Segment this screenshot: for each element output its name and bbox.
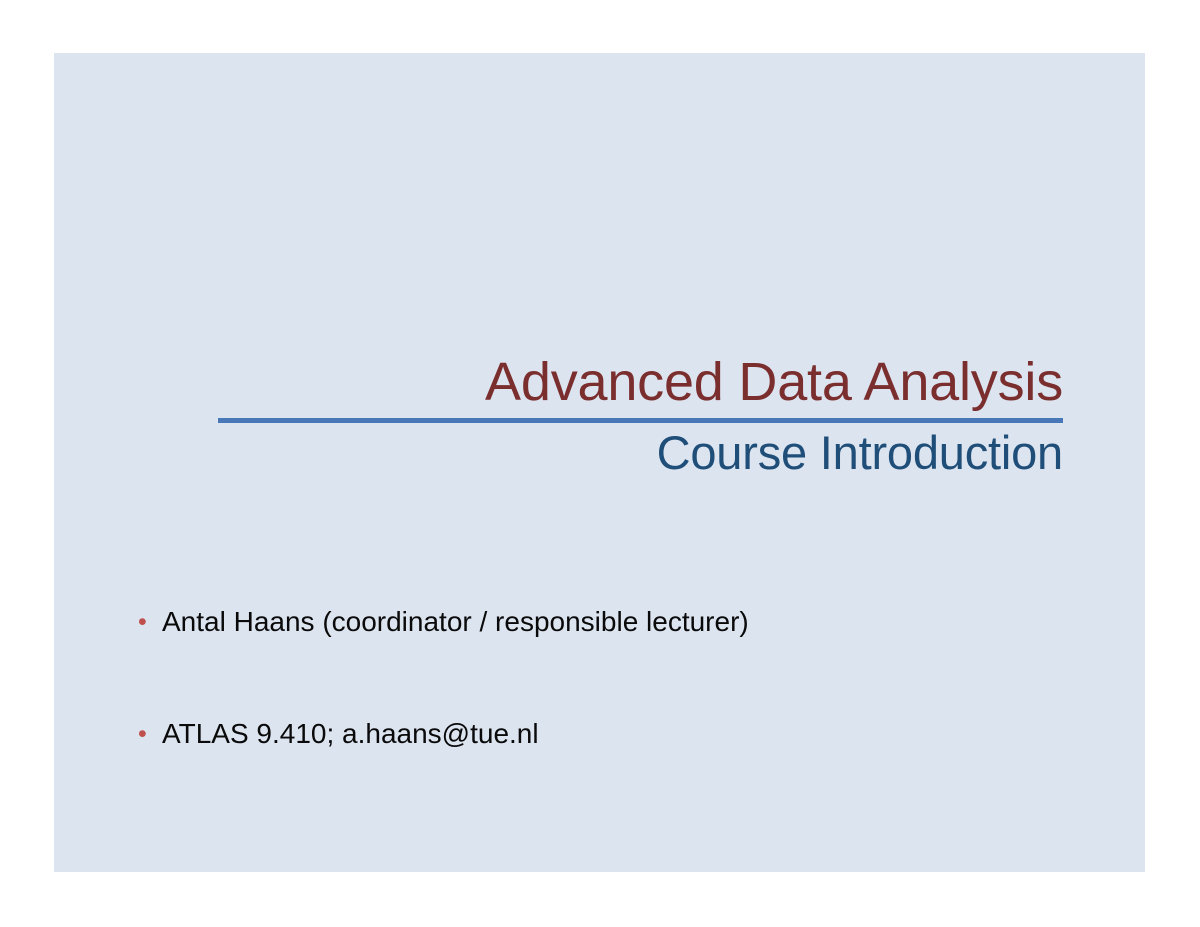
presentation-slide: Advanced Data Analysis Course Introducti… <box>54 53 1145 872</box>
slide-canvas: Advanced Data Analysis Course Introducti… <box>0 0 1200 927</box>
list-item-label: ATLAS 9.410; a.haans@tue.nl <box>162 717 1098 751</box>
title-divider <box>218 418 1063 423</box>
list-item: • ATLAS 9.410; a.haans@tue.nl <box>138 717 1098 751</box>
bullet-list: • Antal Haans (coordinator / responsible… <box>138 605 1098 751</box>
list-item-label: Antal Haans (coordinator / responsible l… <box>162 605 1098 639</box>
page-title: Advanced Data Analysis <box>218 353 1063 411</box>
list-item: • Antal Haans (coordinator / responsible… <box>138 605 1098 639</box>
page-subtitle: Course Introduction <box>218 427 1063 479</box>
title-block: Advanced Data Analysis Course Introducti… <box>218 353 1063 479</box>
bullet-icon: • <box>138 605 162 639</box>
bullet-icon: • <box>138 717 162 751</box>
